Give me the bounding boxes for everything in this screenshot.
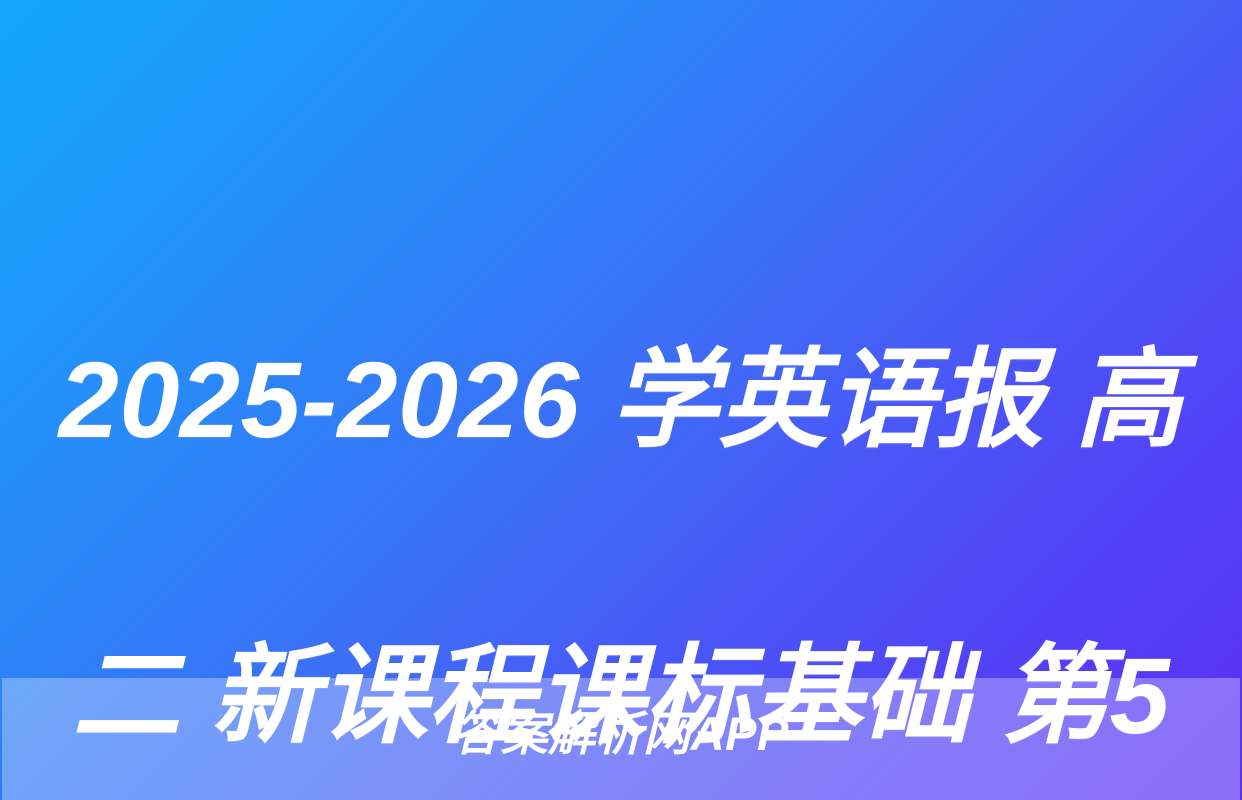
page-title-line-1: 2025-2026 学英语报 高 xyxy=(0,326,1242,474)
app-watermark-label: 答案解析网APP xyxy=(0,705,1242,763)
answer-poster: 2025-2026 学英语报 高 二 新课程课标基础 第5 期答案 答案解析网A… xyxy=(0,0,1242,800)
